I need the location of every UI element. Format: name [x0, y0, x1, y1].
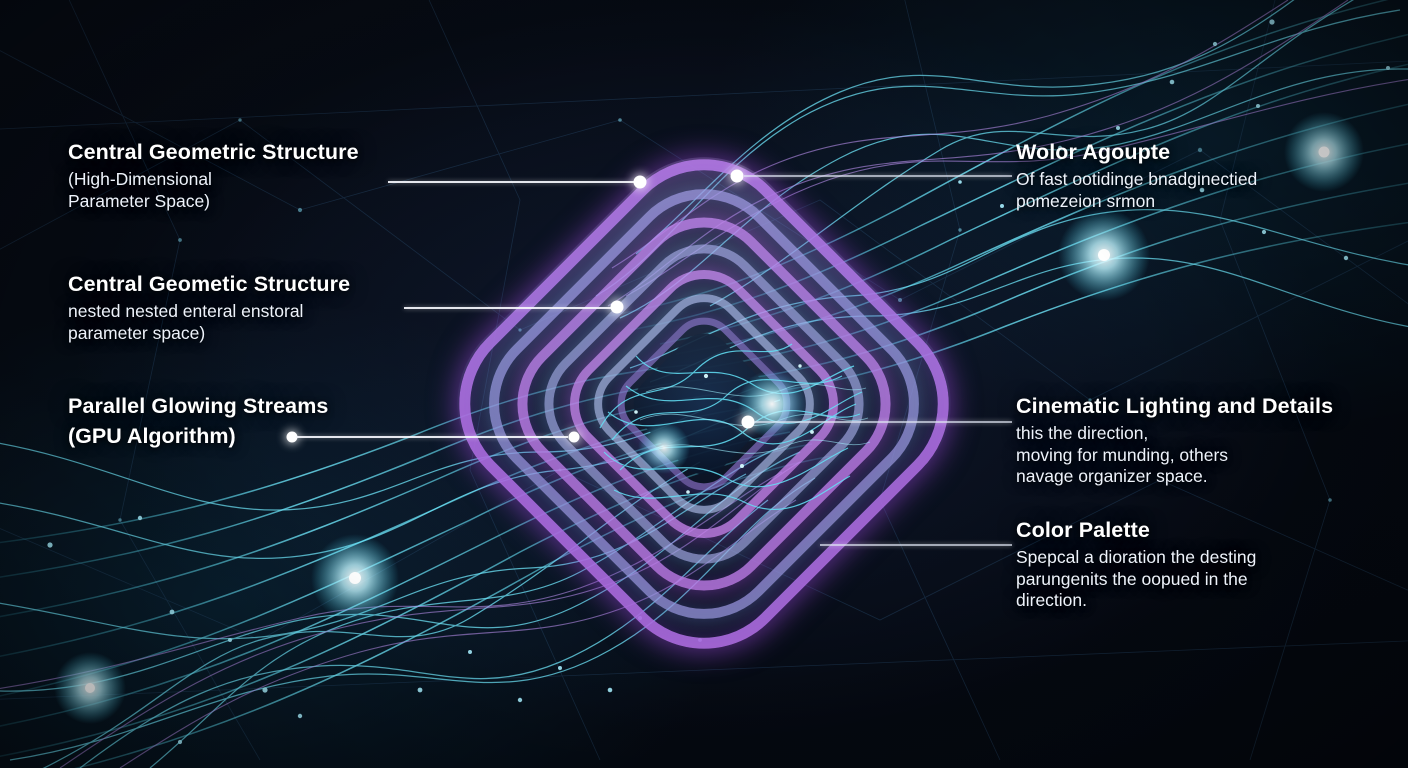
annotation-title: Wolor Agoupte [1016, 140, 1408, 165]
annotation-title: Central Geometic Structure [68, 272, 468, 297]
annotation-central-geometric-structure-nested[interactable]: Central Geometic Structure nested nested… [68, 272, 468, 344]
leader-line-1r [744, 175, 1012, 177]
core-particle-burst [0, 0, 1408, 768]
leader-line-5 [820, 544, 1012, 546]
leader-endpoint-dot-2 [611, 301, 624, 314]
infographic-canvas: Central Geometric Structure (High-Dimens… [0, 0, 1408, 768]
annotation-title: Parallel Glowing Streams [68, 394, 468, 419]
leader-endpoint-dot-1b [731, 170, 744, 183]
leader-endpoint-dot-4 [742, 416, 755, 429]
annotation-central-geometric-structure-high-dimensional[interactable]: Central Geometric Structure (High-Dimens… [68, 140, 468, 212]
annotation-body: this the direction, moving for munding, … [1016, 423, 1408, 487]
annotation-title: Cinematic Lighting and Details [1016, 394, 1408, 419]
annotation-body: (GPU Algorithm) [68, 423, 468, 449]
leader-endpoint-dot-3b [569, 432, 580, 443]
annotation-body: Of fast ootidinge bnadginectied pomezeio… [1016, 169, 1408, 212]
annotation-cinematic-lighting-and-details[interactable]: Cinematic Lighting and Details this the … [1016, 394, 1408, 487]
annotation-body: nested nested enteral enstoral parameter… [68, 301, 468, 344]
leader-endpoint-dot-1 [634, 176, 647, 189]
annotation-parallel-glowing-streams[interactable]: Parallel Glowing Streams (GPU Algorithm) [68, 394, 468, 450]
annotation-body: (High-Dimensional Parameter Space) [68, 169, 468, 212]
leader-line-4 [754, 421, 1012, 423]
annotation-wolor-agoupte[interactable]: Wolor Agoupte Of fast ootidinge bnadgine… [1016, 140, 1408, 212]
annotation-color-palette[interactable]: Color Palette Spepcal a dioration the de… [1016, 518, 1408, 611]
annotation-title: Color Palette [1016, 518, 1408, 543]
annotation-title: Central Geometric Structure [68, 140, 468, 165]
annotation-body: Spepcal a dioration the desting parungen… [1016, 547, 1408, 611]
